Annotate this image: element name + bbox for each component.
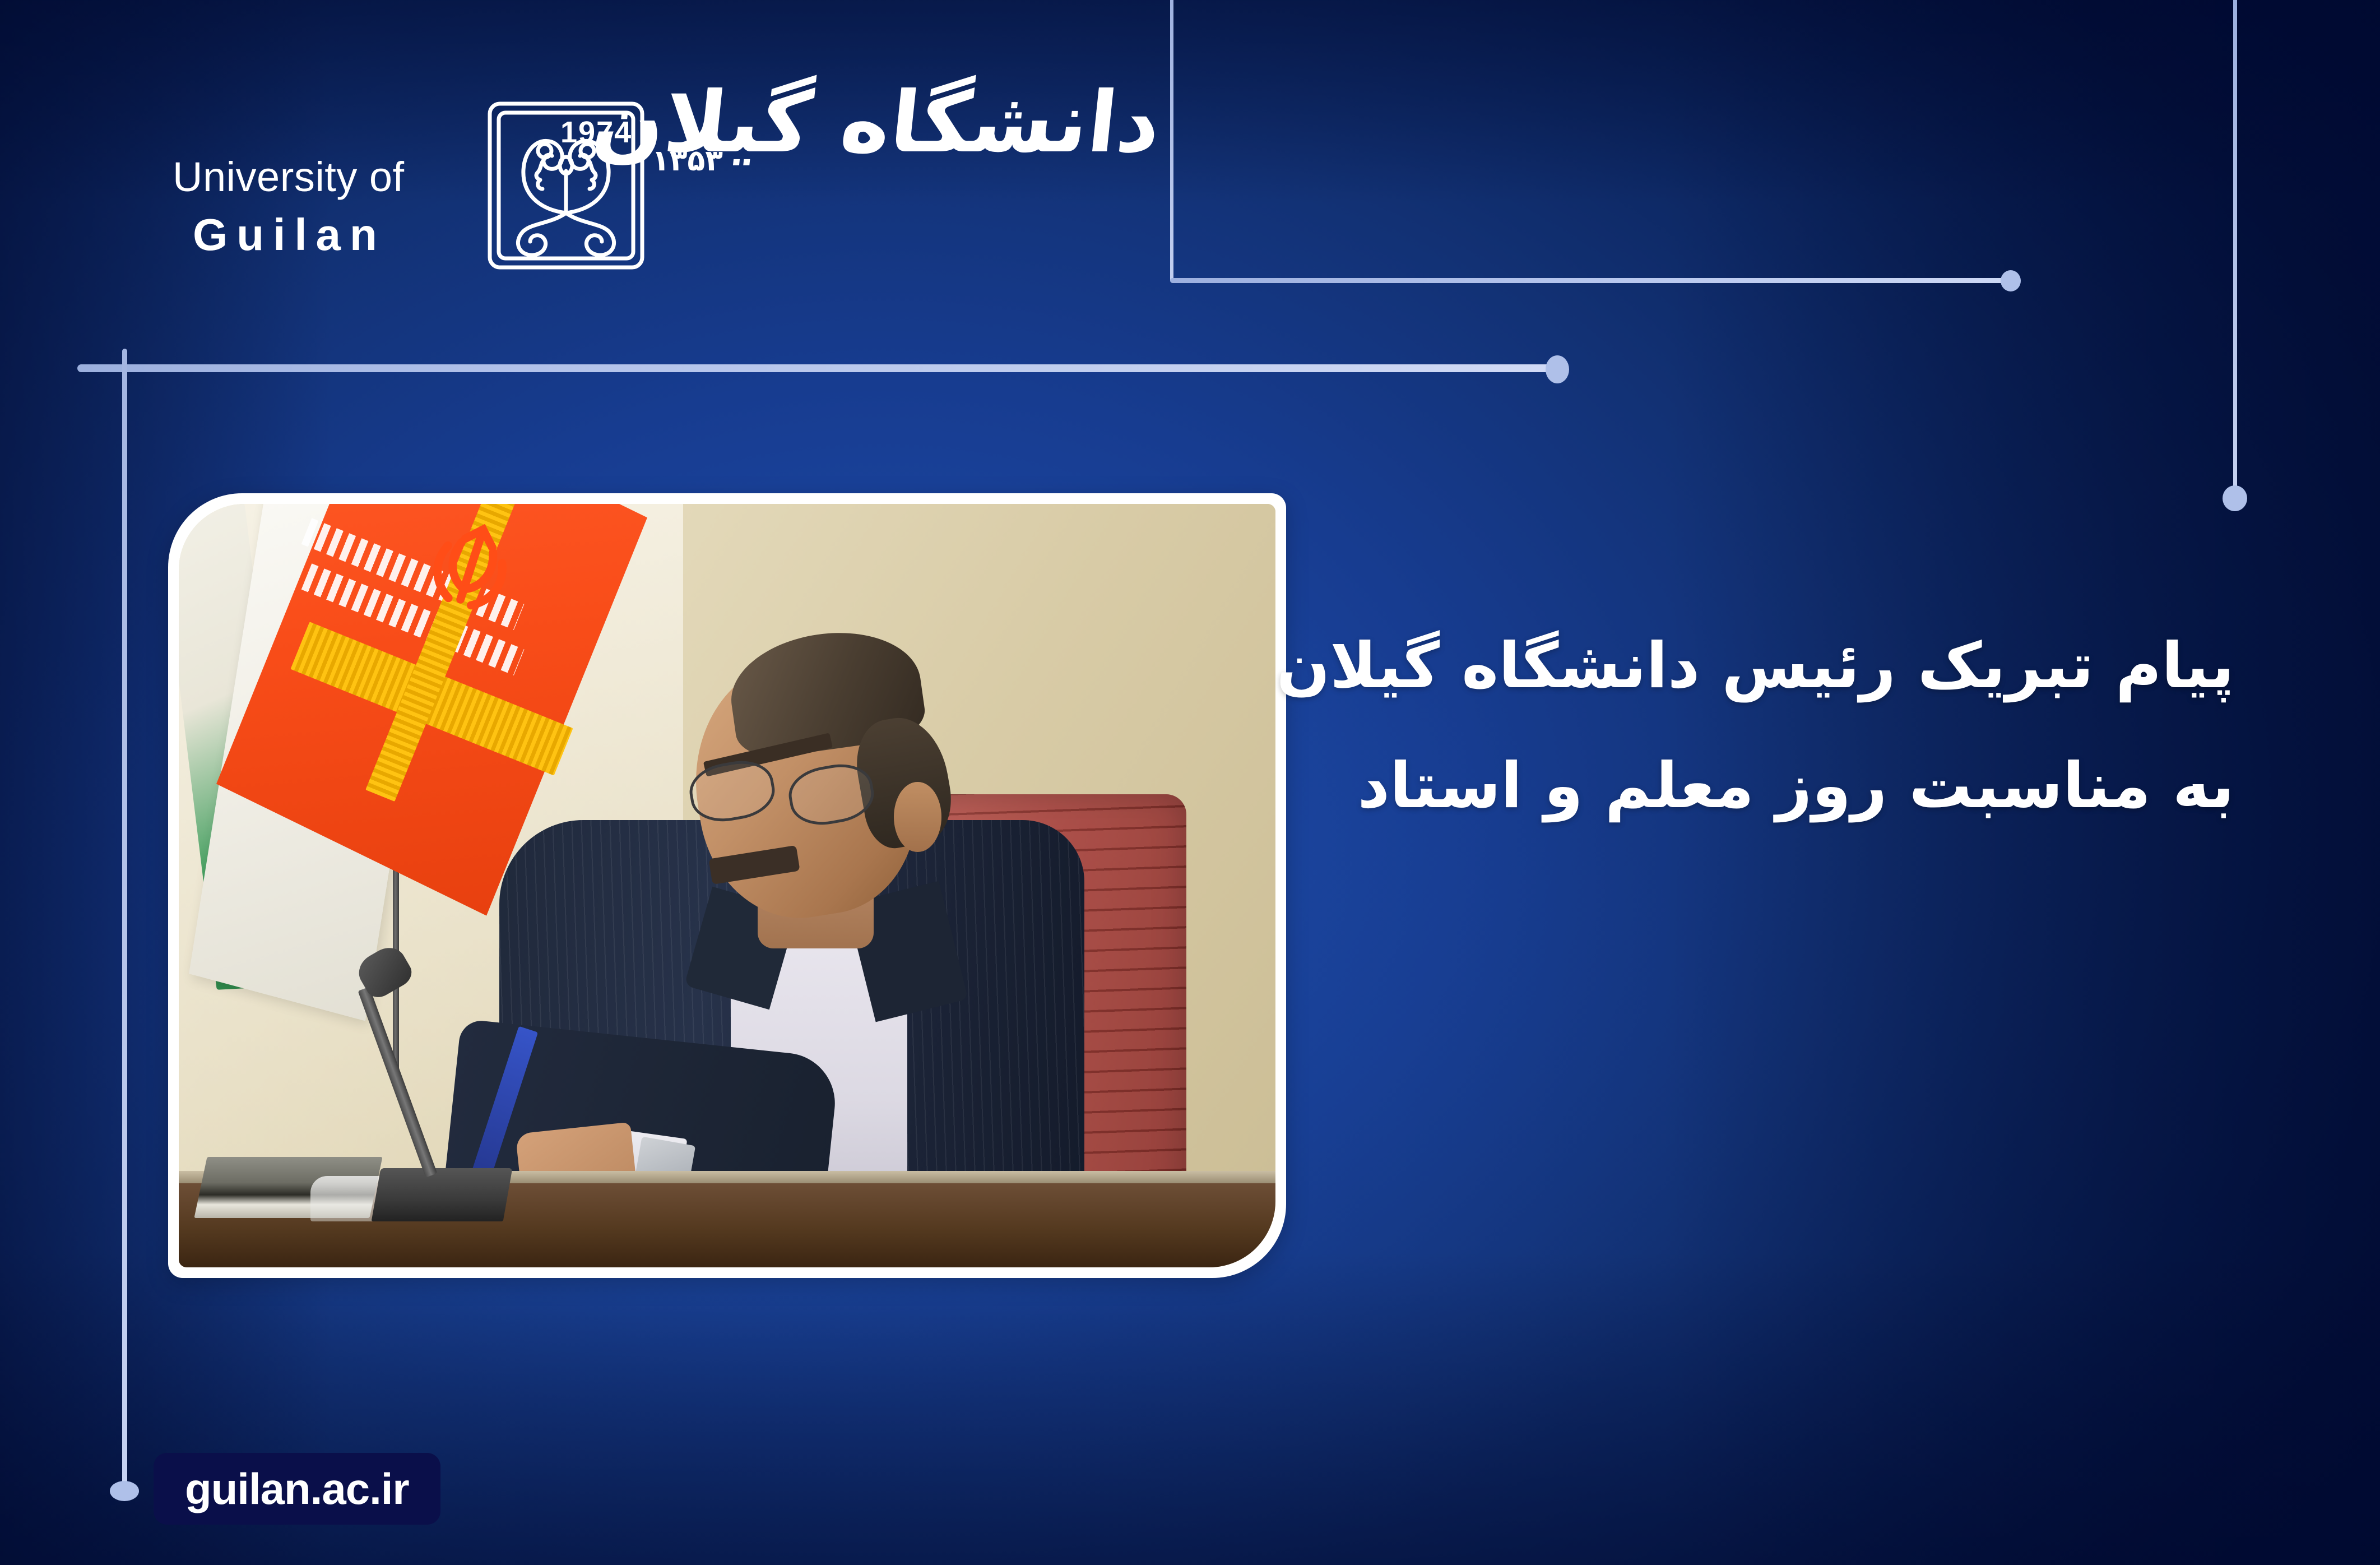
university-logo: 1974 University of Guilan: [168, 115, 1166, 350]
eyeglass-lens-right: [785, 759, 878, 831]
eyeglass-lens-left: [685, 756, 778, 827]
left-vertical-rail-end-dot: [110, 1481, 139, 1501]
president-photo-frame: [168, 493, 1286, 1278]
top-right-vertical-line: [2233, 0, 2237, 490]
top-center-line-end-dot: [2001, 270, 2021, 291]
left-vertical-rail: [122, 349, 127, 1498]
headline-block: پیام تبریک رئیس دانشگاه گیلان به مناسبت …: [1029, 633, 2234, 819]
eyeglasses-icon: [690, 762, 874, 820]
logo-persian-lockup: دانشگاه گیلان ۱۳۵۳: [633, 92, 1160, 283]
microphone-base: [372, 1168, 513, 1221]
top-center-horizontal-line: [1170, 278, 2005, 283]
logo-name-en-line1: University of: [173, 153, 405, 201]
logo-founded-year-fa: ۱۳۵۳: [652, 144, 723, 178]
logo-name-en-line2: Guilan: [193, 209, 386, 261]
website-url-badge[interactable]: guilan.ac.ir: [154, 1453, 440, 1525]
top-right-line-end-dot: [2223, 485, 2247, 511]
top-center-vertical-line: [1170, 0, 1173, 281]
headline-line-1: پیام تبریک رئیس دانشگاه گیلان: [1029, 633, 2234, 700]
headline-line-2: به مناسبت روز معلم و استاد: [1029, 753, 2234, 819]
ear: [894, 782, 941, 853]
president-photo: [179, 504, 1275, 1267]
header-underline-end-dot: [1546, 355, 1569, 383]
website-url-text: guilan.ac.ir: [185, 1464, 409, 1515]
banner-canvas: 1974 University of Guilan: [0, 0, 2380, 1565]
header-underline: [77, 364, 1568, 372]
